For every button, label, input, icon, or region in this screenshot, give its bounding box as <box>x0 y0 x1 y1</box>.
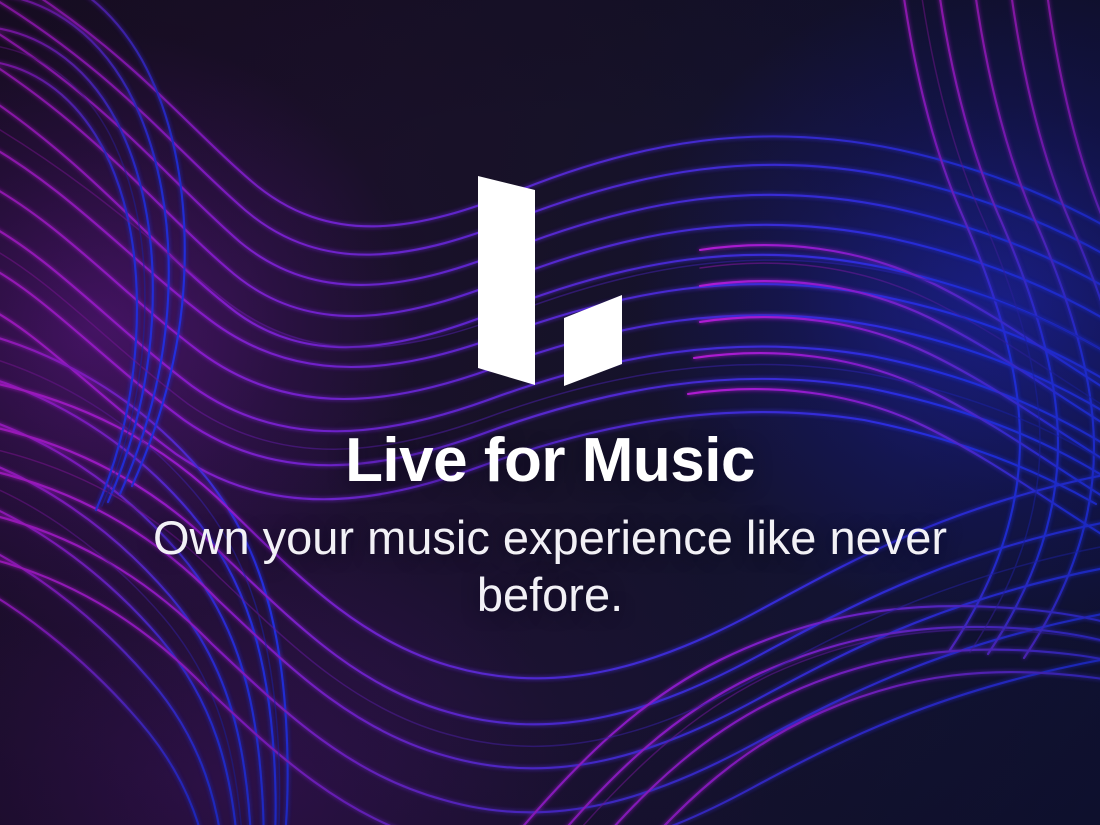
page-title: Live for Music <box>345 428 755 493</box>
logo-icon <box>460 168 640 393</box>
hero-screen: Live for Music Own your music experience… <box>0 0 1100 825</box>
hero-content: Live for Music Own your music experience… <box>0 0 1100 825</box>
page-subtitle: Own your music experience like never bef… <box>110 509 990 624</box>
brand-logo <box>460 168 640 393</box>
